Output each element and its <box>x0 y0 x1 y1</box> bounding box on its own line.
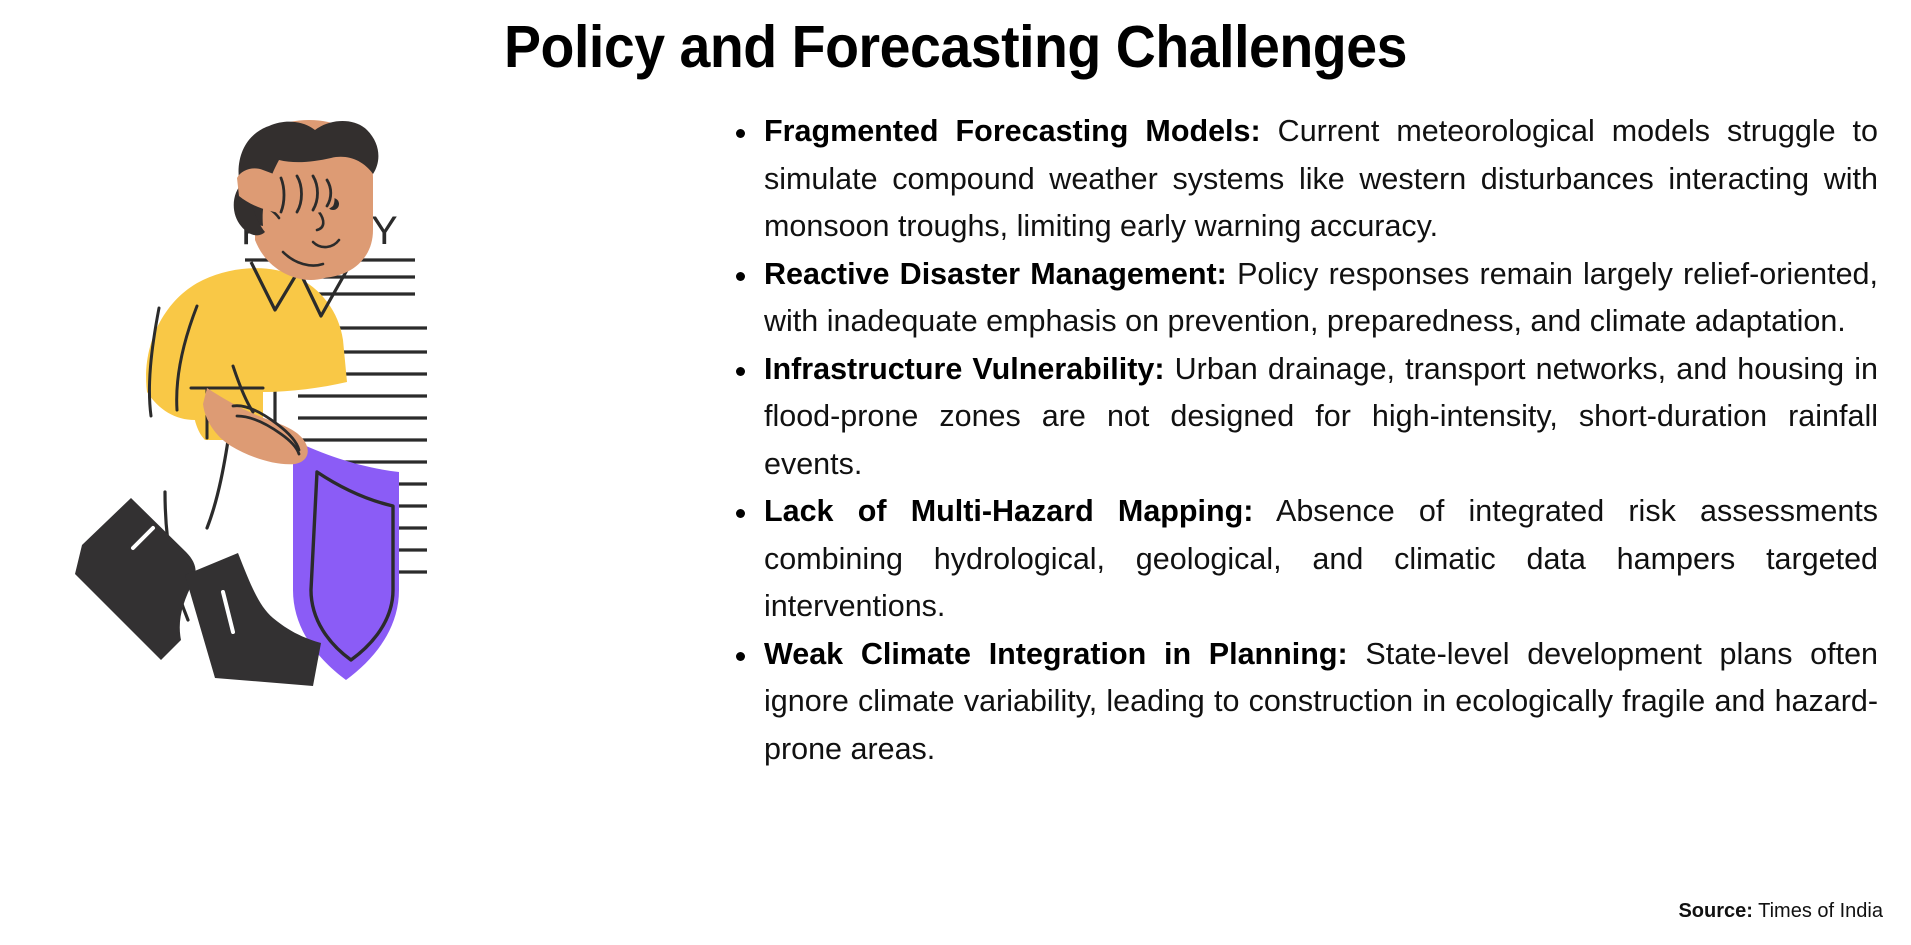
source-attribution: Source: Times of India <box>1678 898 1883 924</box>
bullet-content: Fragmented Forecasting Models: Current m… <box>718 108 1878 773</box>
bullet-title: Reactive Disaster Management: <box>764 257 1227 291</box>
list-item: Weak Climate Integration in Planning: St… <box>764 631 1878 774</box>
bullet-title: Infrastructure Vulnerability: <box>764 352 1165 386</box>
list-item: Reactive Disaster Management: Policy res… <box>764 251 1878 346</box>
list-item: Fragmented Forecasting Models: Current m… <box>764 108 1878 251</box>
bullet-title: Fragmented Forecasting Models: <box>764 114 1261 148</box>
boots-shape <box>75 498 321 686</box>
source-label: Source: <box>1678 900 1752 922</box>
bullet-list: Fragmented Forecasting Models: Current m… <box>718 108 1878 773</box>
page-title: Policy and Forecasting Challenges <box>57 14 1853 82</box>
bullet-title: Lack of Multi-Hazard Mapping: <box>764 494 1253 528</box>
slide-root: Policy and Forecasting Challenges POLICY <box>0 0 1911 945</box>
policy-document-illustration: POLICY <box>55 120 675 820</box>
list-item: Lack of Multi-Hazard Mapping: Absence of… <box>764 488 1878 631</box>
list-item: Infrastructure Vulnerability: Urban drai… <box>764 346 1878 489</box>
bullet-title: Weak Climate Integration in Planning: <box>764 637 1348 671</box>
source-value: Times of India <box>1758 900 1883 922</box>
